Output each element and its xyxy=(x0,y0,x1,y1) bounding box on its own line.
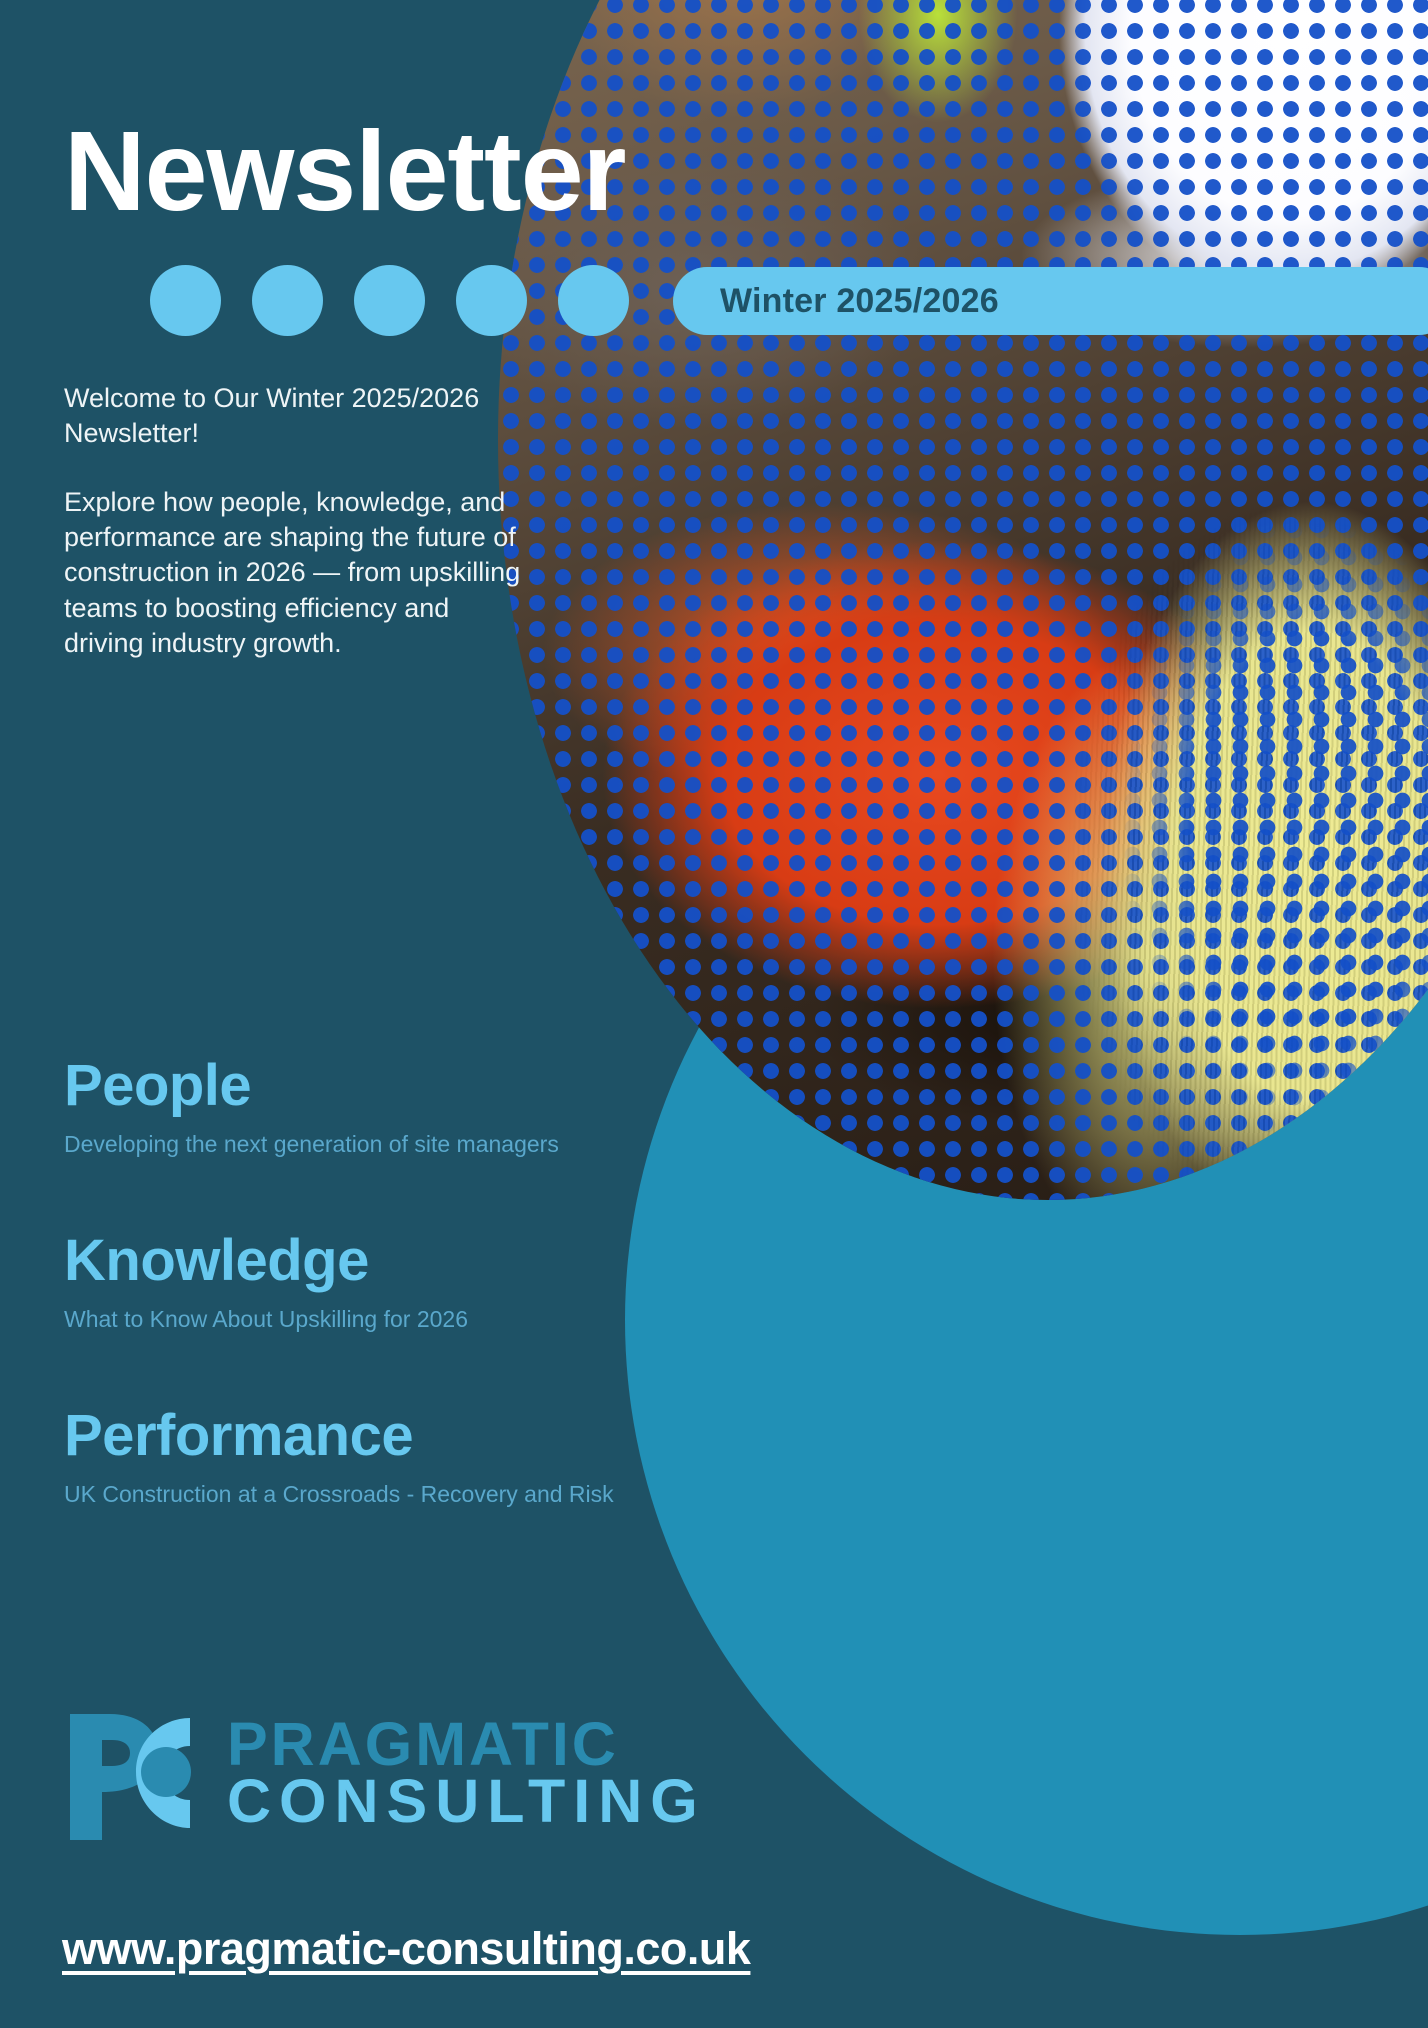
section-performance: Performance UK Construction at a Crossro… xyxy=(64,1407,614,1509)
issue-badge: Winter 2025/2026 xyxy=(673,267,1428,335)
website-url[interactable]: www.pragmatic-consulting.co.uk xyxy=(62,1923,750,1975)
intro-spacer xyxy=(64,452,534,485)
section-knowledge: Knowledge What to Know About Upskilling … xyxy=(64,1232,468,1334)
intro-block: Welcome to Our Winter 2025/2026 Newslett… xyxy=(64,381,534,662)
intro-body-text: Explore how people, knowledge, and perfo… xyxy=(64,485,534,662)
section-performance-subtitle: UK Construction at a Crossroads - Recove… xyxy=(64,1481,614,1509)
company-logo: PRAGMATIC CONSULTING xyxy=(62,1700,706,1845)
logo-line-consulting: CONSULTING xyxy=(227,1773,706,1829)
intro-welcome-text: Welcome to Our Winter 2025/2026 Newslett… xyxy=(64,381,534,452)
decorative-dot-icon xyxy=(456,265,527,336)
glove-grip-dots xyxy=(498,0,1428,1200)
section-people: People Developing the next generation of… xyxy=(64,1057,559,1159)
issue-badge-label: Winter 2025/2026 xyxy=(720,282,999,321)
page-title: Newsletter xyxy=(64,115,626,228)
pragmatic-consulting-logo-icon xyxy=(62,1700,207,1845)
section-performance-title: Performance xyxy=(64,1407,614,1465)
decorative-dot-icon xyxy=(558,265,629,336)
hero-photo-ellipse xyxy=(498,0,1428,1200)
newsletter-cover-page: Newsletter Winter 2025/2026 Welcome to O… xyxy=(0,0,1428,2028)
section-people-subtitle: Developing the next generation of site m… xyxy=(64,1131,559,1159)
dot-decoration-row xyxy=(150,265,629,336)
logo-wordmark: PRAGMATIC CONSULTING xyxy=(227,1716,706,1828)
section-knowledge-subtitle: What to Know About Upskilling for 2026 xyxy=(64,1306,468,1334)
section-knowledge-title: Knowledge xyxy=(64,1232,468,1290)
logo-line-pragmatic: PRAGMATIC xyxy=(227,1716,706,1772)
decorative-dot-icon xyxy=(252,265,323,336)
decorative-dot-icon xyxy=(354,265,425,336)
decorative-dot-icon xyxy=(150,265,221,336)
section-people-title: People xyxy=(64,1057,559,1115)
